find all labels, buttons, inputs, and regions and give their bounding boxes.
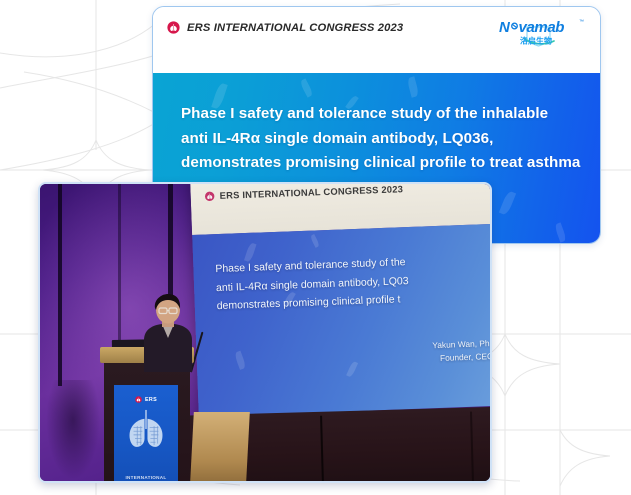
ers-lung-circle-icon: [167, 21, 180, 34]
slide-title-line-1: Phase I safety and tolerance study of th…: [181, 102, 584, 127]
photo-image: ERS INTERNATIONAL CONGRESS 2023 Phase I …: [40, 184, 490, 481]
lungs-icon: [124, 407, 168, 451]
podium-body: ERS INTERNATIONAL: [104, 363, 190, 481]
podium-branding-panel: ERS INTERNATIONAL: [114, 385, 178, 481]
svg-text:vamab: vamab: [519, 19, 565, 36]
presentation-photo-card: ERS INTERNATIONAL CONGRESS 2023 Phase I …: [38, 182, 492, 483]
screen-body: Phase I safety and tolerance study of th…: [192, 223, 492, 416]
slide-title: Phase I safety and tolerance study of th…: [181, 102, 584, 176]
screen-author-block: Yakun Wan, Ph.D. Founder, CEO: [432, 337, 492, 365]
presenter-figure: [118, 292, 214, 372]
svg-text:N: N: [499, 19, 511, 36]
screen-congress-title: ERS INTERNATIONAL CONGRESS 2023: [219, 183, 403, 201]
congress-title: ERS INTERNATIONAL CONGRESS 2023: [187, 22, 403, 34]
podium-caption: INTERNATIONAL: [114, 475, 178, 480]
slide-title-line-2: anti IL-4Rα single domain antibody, LQ03…: [181, 127, 584, 152]
novamab-logo-icon: N vamab ™ 洛启生物: [498, 16, 584, 48]
wall-shadow: [46, 380, 100, 480]
podium-ers-brand: ERS: [145, 397, 157, 403]
screen-slide-title: Phase I safety and tolerance study of th…: [215, 253, 410, 316]
svg-text:洛启生物: 洛启生物: [520, 36, 552, 46]
ers-lung-circle-icon: [135, 396, 142, 403]
ers-lung-circle-icon: [204, 191, 214, 201]
card-header: ERS INTERNATIONAL CONGRESS 2023 N vamab …: [153, 7, 600, 73]
svg-text:™: ™: [579, 19, 584, 25]
author-role: Founder, CEO: [433, 349, 492, 364]
side-table: [190, 412, 250, 482]
congress-branding: ERS INTERNATIONAL CONGRESS 2023: [167, 19, 403, 34]
slide-title-line-3: demonstrates promising clinical profile …: [181, 151, 584, 176]
